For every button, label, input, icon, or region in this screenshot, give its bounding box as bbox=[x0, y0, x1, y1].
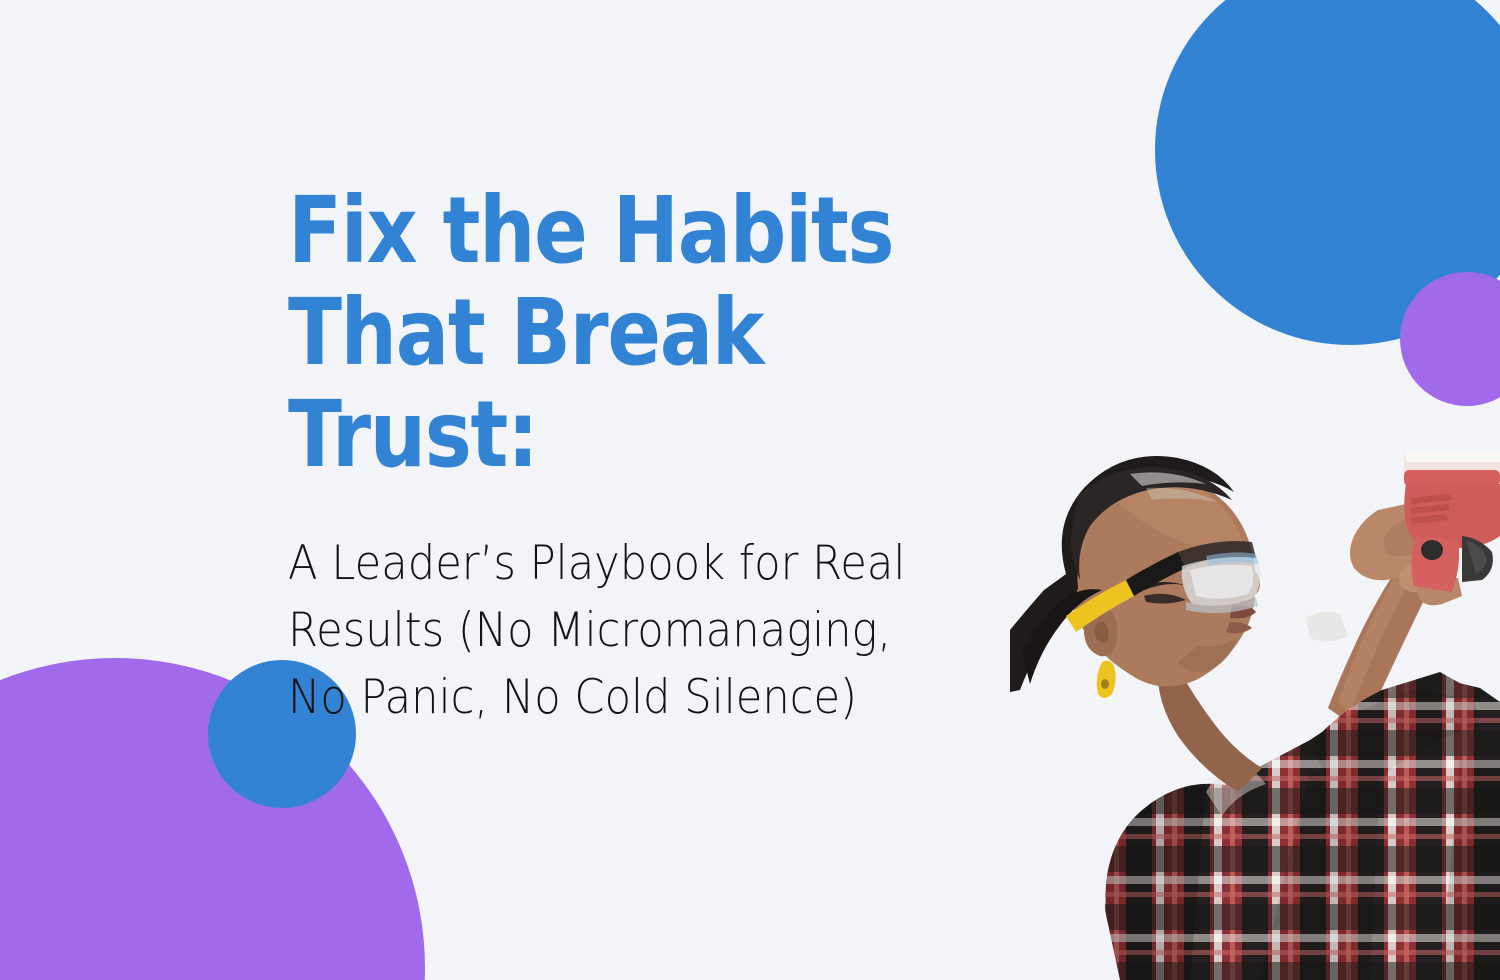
hero-photo bbox=[1010, 440, 1500, 980]
page-title: Fix the Habits That Break Trust: bbox=[288, 180, 976, 486]
poster-canvas: Fix the Habits That Break Trust: A Leade… bbox=[0, 0, 1500, 980]
person-illustration bbox=[1010, 440, 1500, 980]
page-subtitle: A Leader’s Playbook for Real Results (No… bbox=[288, 486, 1024, 731]
power-tool bbox=[1404, 452, 1500, 592]
text-block: Fix the Habits That Break Trust: A Leade… bbox=[288, 180, 1088, 731]
